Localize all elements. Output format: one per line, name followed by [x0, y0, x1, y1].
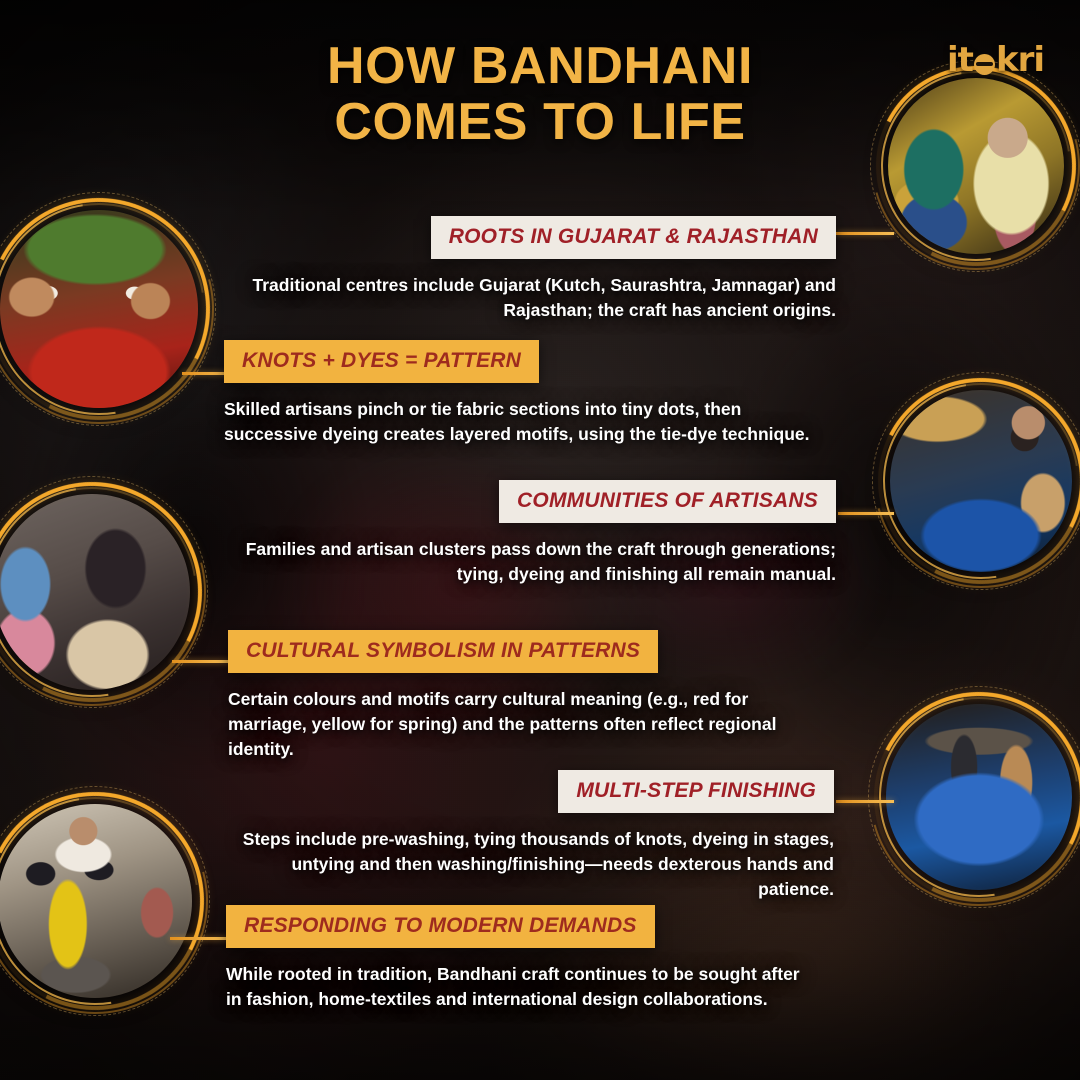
connector-line-roots — [836, 232, 894, 235]
section-body-communities: Families and artisan clusters pass down … — [238, 537, 836, 587]
section-body-knots-dyes: Skilled artisans pinch or tie fabric sec… — [224, 397, 816, 447]
itokri-logo[interactable]: it kri — [947, 40, 1044, 80]
connector-line-communities — [838, 512, 894, 515]
section-heading-communities: COMMUNITIES OF ARTISANS — [499, 480, 836, 523]
connector-line-modern — [170, 937, 228, 940]
section-heading-knots-dyes: KNOTS + DYES = PATTERN — [224, 340, 539, 383]
logo-o-mark-icon — [974, 54, 995, 75]
section-body-cultural-symbolism: Certain colours and motifs carry cultura… — [228, 687, 816, 762]
section-roots: ROOTS IN GUJARAT & RAJASTHAN Traditional… — [236, 216, 836, 323]
section-heading-roots: ROOTS IN GUJARAT & RAJASTHAN — [431, 216, 836, 259]
section-cultural-symbolism: CULTURAL SYMBOLISM IN PATTERNS Certain c… — [228, 630, 816, 762]
photo-hands-tying-red-fabric-knots — [0, 198, 210, 420]
section-multi-step-finishing: MULTI-STEP FINISHING Steps include pre-w… — [236, 770, 834, 902]
connector-line-finishing — [836, 800, 894, 803]
page-title: HOW BANDHANI COMES TO LIFE — [0, 38, 1080, 150]
section-heading-modern-demands: RESPONDING TO MODERN DEMANDS — [226, 905, 655, 948]
section-communities: COMMUNITIES OF ARTISANS Families and art… — [238, 480, 836, 587]
logo-text-after: kri — [996, 40, 1044, 80]
section-body-multi-step-finishing: Steps include pre-washing, tying thousan… — [236, 827, 834, 902]
photo-artisan-dyeing-in-blue-vat — [878, 378, 1080, 584]
section-heading-cultural-symbolism: CULTURAL SYMBOLISM IN PATTERNS — [228, 630, 658, 673]
photo-artisan-lifting-yellow-dyed-fabric — [0, 792, 204, 1010]
photo-women-artisans-seated-tying-fabric — [0, 482, 202, 702]
connector-line-cultural — [172, 660, 230, 663]
photo-indigo-dye-vat-with-yellow-fabric — [874, 692, 1080, 902]
section-heading-multi-step-finishing: MULTI-STEP FINISHING — [558, 770, 834, 813]
page-title-line-1: HOW BANDHANI — [327, 37, 753, 95]
section-knots-dyes: KNOTS + DYES = PATTERN Skilled artisans … — [224, 340, 816, 447]
page-title-line-2: COMES TO LIFE — [0, 94, 1080, 150]
infographic-canvas: HOW BANDHANI COMES TO LIFE it kri — [0, 0, 1080, 1080]
section-body-roots: Traditional centres include Gujarat (Kut… — [236, 273, 836, 323]
section-body-modern-demands: While rooted in tradition, Bandhani craf… — [226, 962, 814, 1012]
logo-text-before: it — [947, 40, 973, 80]
section-modern-demands: RESPONDING TO MODERN DEMANDS While roote… — [226, 905, 814, 1012]
